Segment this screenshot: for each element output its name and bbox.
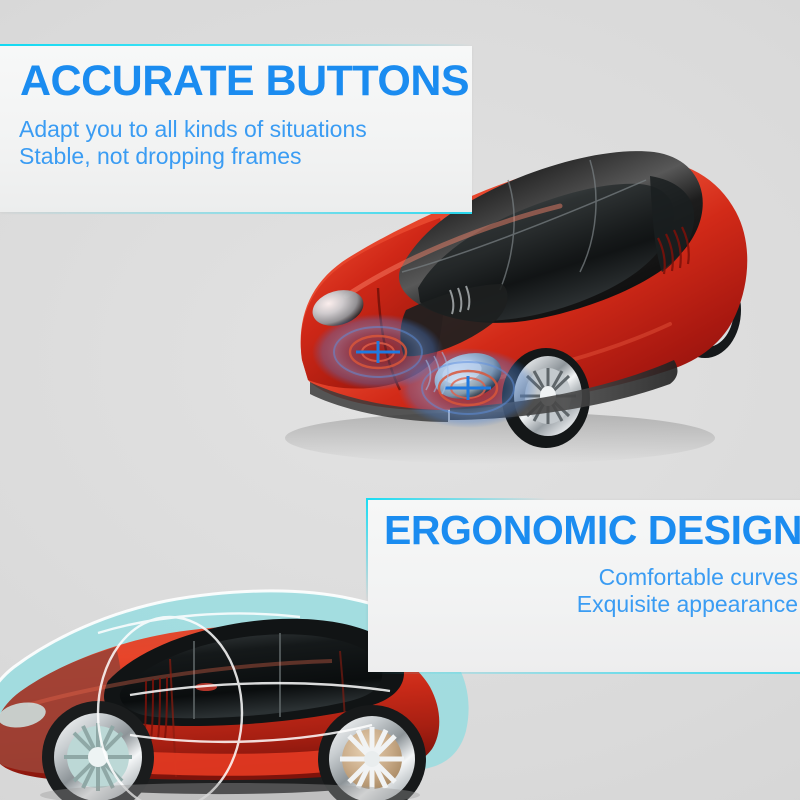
subtext-line-3: Comfortable curves bbox=[577, 564, 798, 591]
panel-top-cyan-accent-2 bbox=[366, 498, 546, 500]
panel-bottom-cyan-accent-2 bbox=[368, 672, 800, 674]
panel-accurate-buttons: ACCURATE BUTTONS Adapt you to all kinds … bbox=[0, 46, 472, 212]
product-marketing-image: ACCURATE BUTTONS Adapt you to all kinds … bbox=[0, 0, 800, 800]
headline-accurate-buttons: ACCURATE BUTTONS bbox=[20, 60, 469, 103]
subtext-line-4: Exquisite appearance bbox=[577, 591, 798, 618]
panel-left-cyan-accent bbox=[366, 498, 368, 600]
subtext-accurate-buttons: Adapt you to all kinds of situations Sta… bbox=[19, 116, 367, 170]
click-indicator-right-button bbox=[398, 348, 538, 428]
headline-ergonomic-design: ERGONOMIC DESIGN bbox=[384, 510, 800, 551]
panel-bottom-cyan-accent bbox=[0, 212, 472, 214]
subtext-ergonomic-design: Comfortable curves Exquisite appearance bbox=[577, 564, 798, 618]
panel-ergonomic-design: ERGONOMIC DESIGN Comfortable curves Exqu… bbox=[368, 500, 800, 672]
subtext-line-1: Adapt you to all kinds of situations bbox=[19, 116, 367, 143]
panel-top-cyan-accent bbox=[0, 44, 472, 46]
subtext-line-2: Stable, not dropping frames bbox=[19, 143, 367, 170]
